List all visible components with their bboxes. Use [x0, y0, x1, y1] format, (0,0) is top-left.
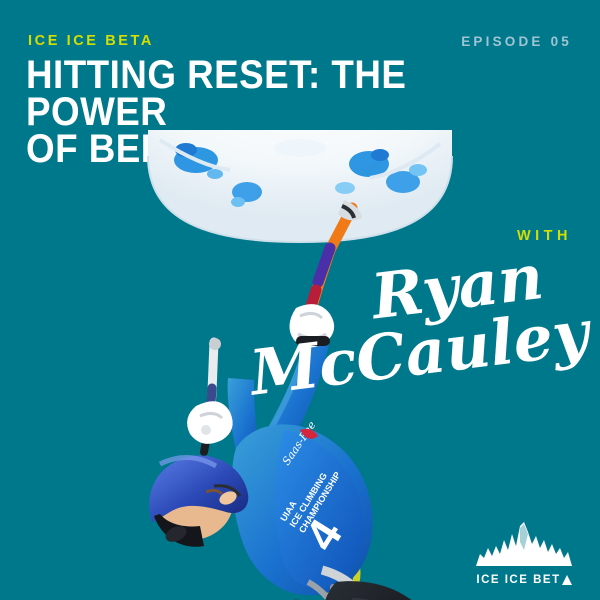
mountain-range-icon — [474, 520, 574, 568]
climber-head — [148, 455, 248, 551]
brand-kicker: ICE ICE BETA — [28, 33, 154, 49]
with-label: WITH — [517, 228, 572, 244]
logo[interactable]: ICE ICE BET — [472, 508, 576, 586]
title-line-1: HITTING RESET: THE POWER — [26, 53, 406, 134]
logo-text: ICE ICE BET — [476, 574, 571, 586]
climber-left-glove — [187, 401, 233, 444]
podcast-cover-art: ICE ICE BETA EPISODE 05 HITTING RESET: T… — [0, 0, 600, 600]
episode-label: EPISODE 05 — [461, 34, 572, 49]
climber-right-glove — [289, 304, 334, 347]
header-row: ICE ICE BETA EPISODE 05 — [28, 31, 572, 51]
logo-text-label: ICE ICE BET — [476, 574, 560, 586]
logo-triangle-a-icon — [562, 575, 572, 585]
ice-ceiling — [148, 130, 452, 242]
